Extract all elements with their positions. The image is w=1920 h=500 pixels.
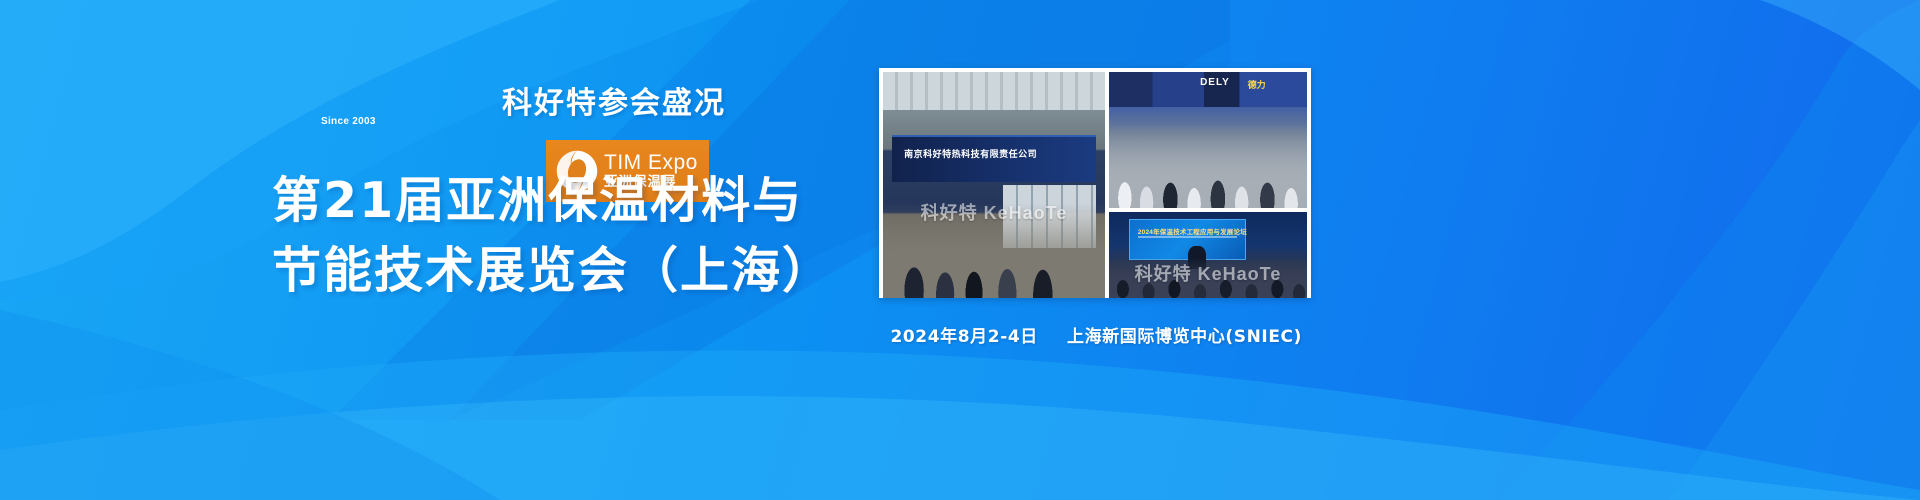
banner-subtitle: 科好特参会盛况 [502, 78, 726, 122]
hall-sign-text: DELY [1200, 77, 1230, 88]
event-caption: 2024年8月2-4日 上海新国际博览中心(SNIEC) [0, 322, 1302, 347]
seminar-screen-title: 2024年保温技术工程应用与发展论坛 [1138, 226, 1247, 236]
event-date: 2024年8月2-4日 [890, 327, 1037, 347]
hall-signage: DELY 德力 [1109, 72, 1307, 107]
seminar-screen-divider [1138, 236, 1237, 238]
booth-banner-text: 南京科好特热科技有限责任公司 [904, 147, 1037, 160]
booth-visitors [883, 203, 1105, 298]
background-wave-bottom [0, 320, 1920, 500]
banner-title-line2: 节能技术展览会（上海） [272, 236, 833, 306]
hall-sign-text-secondary: 德力 [1248, 78, 1266, 91]
tim-expo-logo[interactable]: TIM Expo 亚洲保温展 Since 2003 [273, 70, 436, 132]
logo-since-text: Since 2003 [321, 116, 376, 127]
banner-title: 第21届亚洲保温材料与 节能技术展览会（上海） [272, 166, 833, 306]
photo-collage: 南京科好特热科技有限责任公司 科好特 KeHaoTe DELY 德力 2024年… [879, 68, 1311, 298]
aisle-visitors [1109, 124, 1307, 208]
exhibition-booth-photo[interactable]: 南京科好特热科技有限责任公司 科好特 KeHaoTe [883, 72, 1105, 298]
booth-ceiling [883, 72, 1105, 110]
seminar-session-photo[interactable]: 2024年保温技术工程应用与发展论坛 科好特 KeHaoTe [1109, 212, 1307, 298]
banner-title-line1: 第21届亚洲保温材料与 [272, 172, 803, 229]
event-venue: 上海新国际博览中心(SNIEC) [1067, 327, 1302, 347]
booth-banner-strip: 南京科好特热科技有限责任公司 [892, 135, 1096, 182]
event-promo-banner: TIM Expo 亚洲保温展 Since 2003 科好特参会盛况 第21届亚洲… [0, 0, 1920, 500]
exhibition-aisle-crowd-photo[interactable]: DELY 德力 [1109, 72, 1307, 208]
seminar-audience [1109, 258, 1307, 298]
